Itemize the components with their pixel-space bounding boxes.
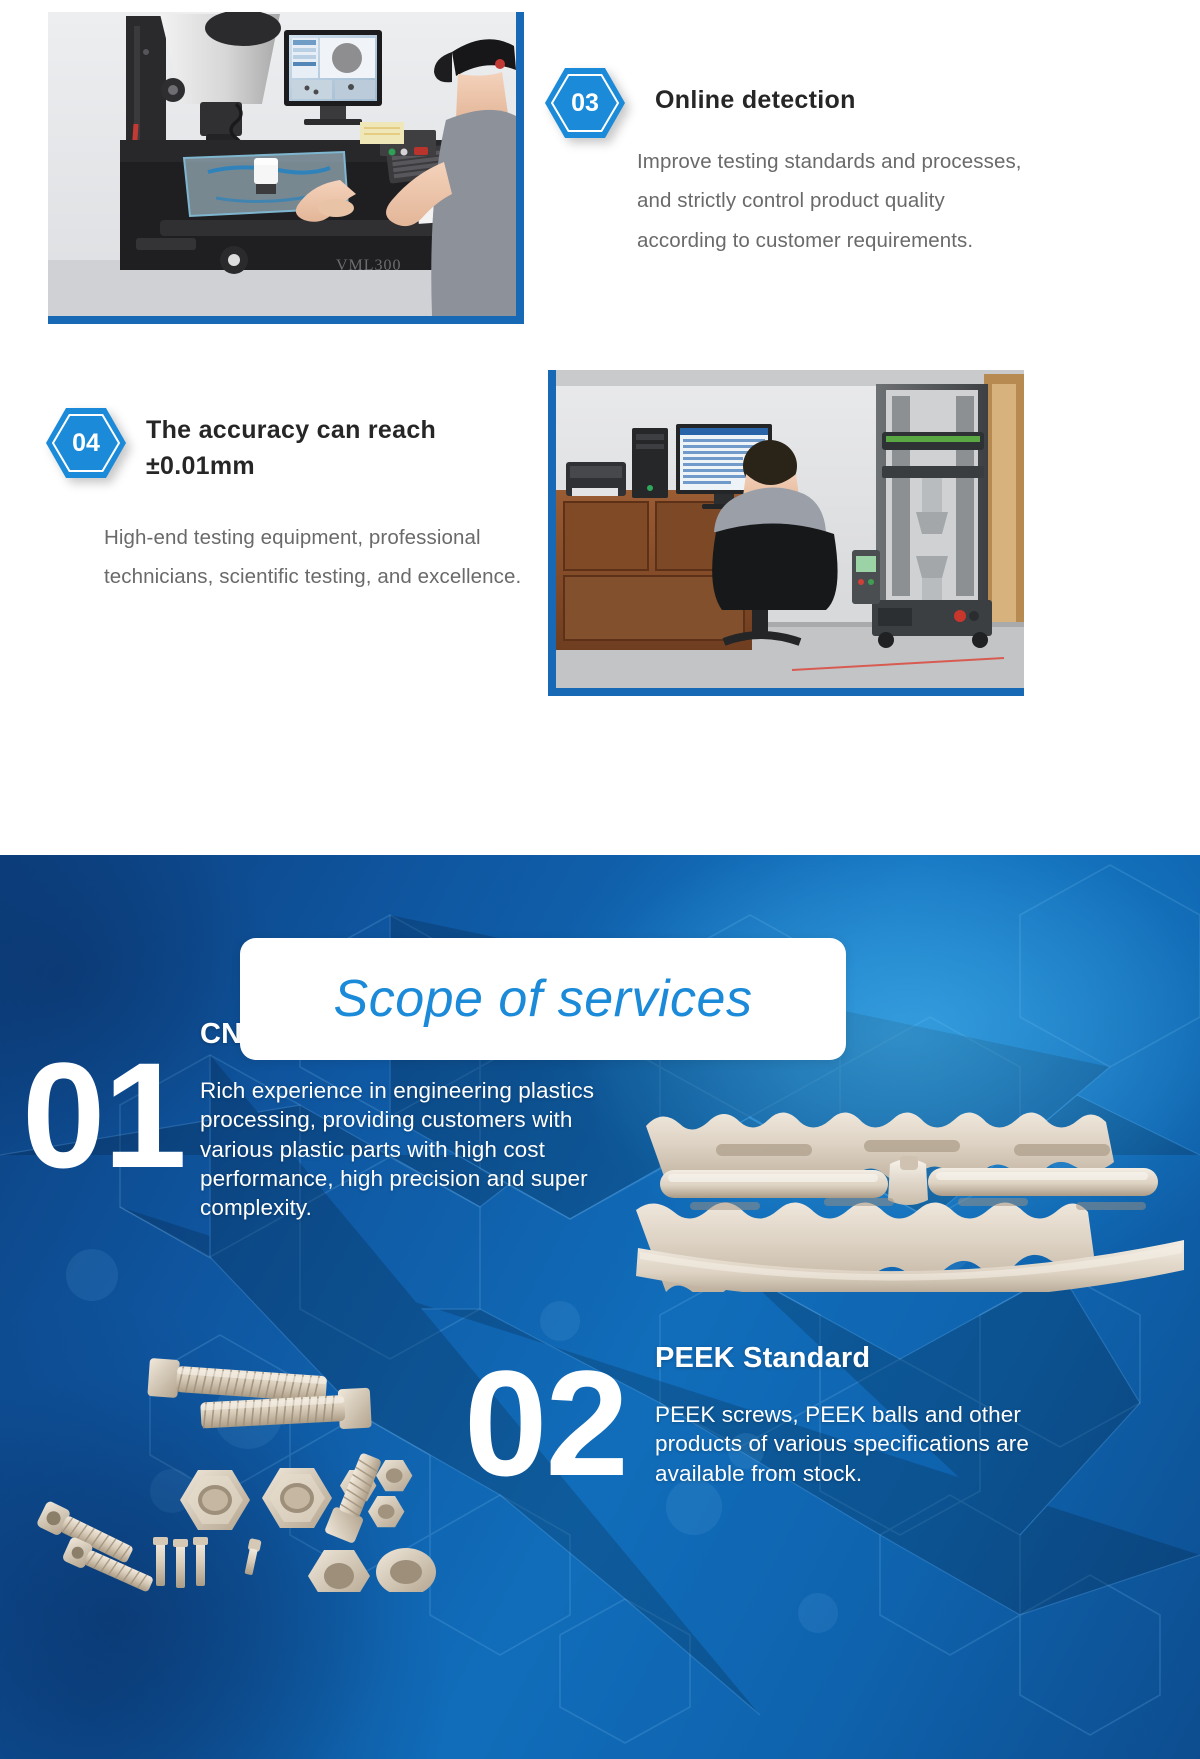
feature-body-03: Improve testing standards and processes,… bbox=[637, 142, 1025, 260]
svg-text:VML300: VML300 bbox=[336, 257, 402, 274]
feature-body-04: High-end testing equipment, professional… bbox=[104, 518, 534, 597]
peek-chain-part-photo bbox=[628, 1052, 1188, 1292]
scope-title-card: Scope of services bbox=[240, 938, 846, 1060]
accuracy-testing-photo-inner bbox=[556, 370, 1024, 688]
feature-badge-04: 04 bbox=[44, 406, 128, 480]
service-body-02: PEEK screws, PEEK balls and other produc… bbox=[655, 1400, 1065, 1488]
service-body-01: Rich experience in engineering plastics … bbox=[200, 1076, 632, 1222]
peek-chain-illustration bbox=[628, 1052, 1188, 1292]
scope-heading: Scope of services bbox=[334, 969, 753, 1029]
features-section: VML300 bbox=[0, 0, 1200, 855]
peek-fasteners-illustration bbox=[24, 1292, 454, 1592]
metrology-lab-illustration: VML300 bbox=[48, 12, 516, 316]
feature-number-04: 04 bbox=[44, 406, 128, 480]
service-number-01: 01 bbox=[22, 1040, 185, 1190]
online-detection-photo: VML300 bbox=[48, 12, 524, 324]
online-detection-photo-inner: VML300 bbox=[48, 12, 516, 316]
testing-lab-illustration bbox=[556, 370, 1024, 688]
feature-title-04: The accuracy can reach ±0.01mm bbox=[146, 412, 506, 485]
accuracy-testing-photo bbox=[548, 370, 1024, 696]
feature-badge-03: 03 bbox=[543, 66, 627, 140]
peek-bolts-nuts-photo bbox=[24, 1292, 454, 1592]
feature-title-03: Online detection bbox=[655, 82, 1085, 118]
service-number-02: 02 bbox=[464, 1348, 627, 1498]
feature-number-03: 03 bbox=[543, 66, 627, 140]
service-title-02: PEEK Standard bbox=[655, 1342, 1135, 1375]
